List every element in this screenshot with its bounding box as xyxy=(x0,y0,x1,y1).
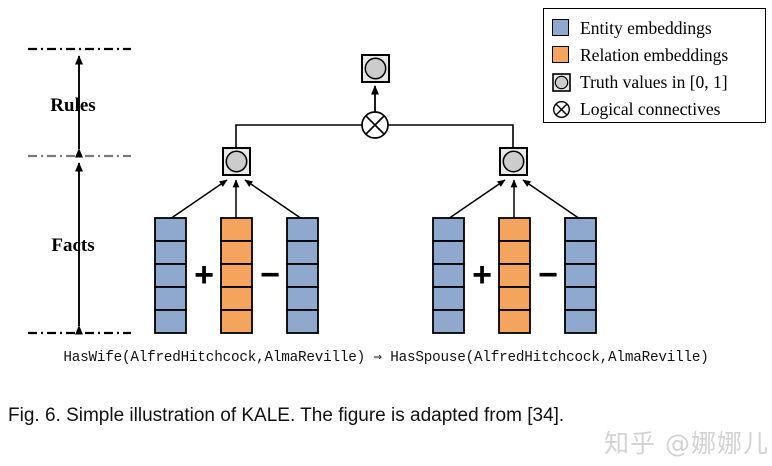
legend-item-entity-embeddings: Entity embeddings xyxy=(552,15,765,42)
kale-figure: Rules Facts + − + − HasWife(AlfredHitchc… xyxy=(0,0,772,466)
operator-plus-left: + xyxy=(186,258,222,292)
block-left-relation xyxy=(221,218,252,333)
legend-label-truth-values: Truth values in [0, 1] xyxy=(580,74,728,92)
axis-label-facts: Facts xyxy=(18,235,128,257)
legend-item-relation-embeddings: Relation embeddings xyxy=(552,42,765,69)
legend-label-logical-connectives: Logical connectives xyxy=(580,101,720,119)
operator-minus-right: − xyxy=(530,258,566,292)
operator-minus-left: − xyxy=(252,258,288,292)
logical-connective-icon xyxy=(552,100,571,119)
logical-connective-node xyxy=(362,112,388,138)
block-right-entity-tail xyxy=(565,218,596,333)
block-left-entity-head xyxy=(155,218,186,333)
operator-plus-right: + xyxy=(464,258,500,292)
arrow-right-entity-head-to-truth xyxy=(448,180,505,219)
legend-item-truth-values: Truth values in [0, 1] xyxy=(552,69,765,96)
legend-item-logical-connectives: Logical connectives xyxy=(552,96,765,123)
arrow-left-entity-tail-to-truth xyxy=(245,180,302,219)
legend-label-relation-embeddings: Relation embeddings xyxy=(580,47,728,65)
arrow-left-entity-head-to-truth xyxy=(170,180,227,219)
truth-value-icon xyxy=(552,73,571,92)
truth-node-left xyxy=(223,148,250,175)
legend-box: Entity embeddings Relation embeddings Tr… xyxy=(543,8,766,123)
legend-label-entity-embeddings: Entity embeddings xyxy=(580,20,712,38)
block-left-entity-tail xyxy=(287,218,318,333)
blue-square-icon xyxy=(552,19,571,38)
formula-text: HasWife(AlfredHitchcock,AlmaReville) ⇒ H… xyxy=(0,349,772,366)
figure-caption: Fig. 6. Simple illustration of KALE. The… xyxy=(8,405,768,427)
truth-node-right xyxy=(500,148,527,175)
block-right-entity-head xyxy=(433,218,464,333)
arrow-right-entity-tail-to-truth xyxy=(523,180,580,219)
axis-label-rules: Rules xyxy=(18,95,128,117)
block-right-relation xyxy=(499,218,530,333)
truth-node-root xyxy=(362,55,389,82)
orange-square-icon xyxy=(552,46,571,65)
